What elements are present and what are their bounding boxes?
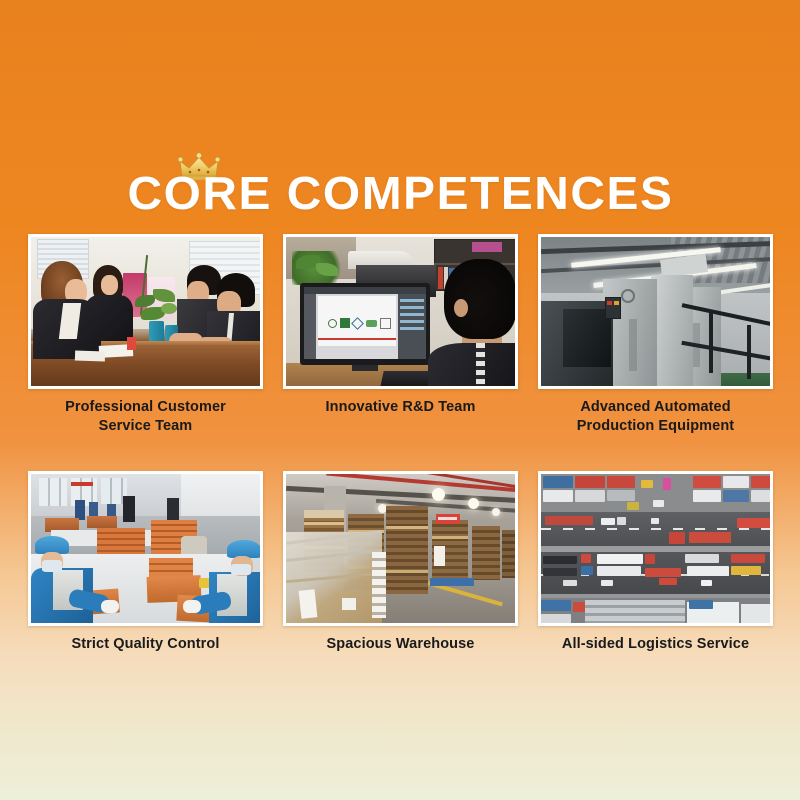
competence-card-spacious-warehouse[interactable]: Spacious Warehouse <box>283 471 518 654</box>
competence-card-innovative-rd-team[interactable]: Innovative R&D Team <box>283 234 518 435</box>
caption-line-2: Service Team <box>28 417 263 436</box>
competence-caption: Spacious Warehouse <box>283 635 518 654</box>
caption-line-1: All-sided Logistics Service <box>538 635 773 654</box>
title-block: CORE COMPETENCES <box>0 152 800 220</box>
competence-card-strict-quality-control[interactable]: Strict Quality Control <box>28 471 263 654</box>
caption-line-1: Strict Quality Control <box>28 635 263 654</box>
caption-line-2: Production Equipment <box>538 417 773 436</box>
competence-card-professional-customer-service-team[interactable]: Professional Customer Service Team <box>28 234 263 435</box>
printing-press-machinery-photo <box>538 234 773 389</box>
caption-line-1: Professional Customer <box>28 398 263 417</box>
warehouse-pallet-storage-photo <box>283 471 518 626</box>
page-title: CORE COMPETENCES <box>127 166 673 220</box>
competence-card-advanced-automated-production-equipment[interactable]: Advanced Automated Production Equipment <box>538 234 773 435</box>
competence-caption: All-sided Logistics Service <box>538 635 773 654</box>
competence-caption: Innovative R&D Team <box>283 398 518 417</box>
competences-grid: Professional Customer Service Team <box>28 234 772 654</box>
quality-control-inspection-photo <box>28 471 263 626</box>
customer-service-meeting-photo <box>28 234 263 389</box>
competence-caption: Advanced Automated Production Equipment <box>538 398 773 435</box>
aerial-container-yard-photo <box>538 471 773 626</box>
competence-caption: Professional Customer Service Team <box>28 398 263 435</box>
caption-line-1: Advanced Automated <box>538 398 773 417</box>
competence-card-all-sided-logistics-service[interactable]: All-sided Logistics Service <box>538 471 773 654</box>
core-competences-banner: CORE COMPETENCES <box>0 0 800 800</box>
caption-line-1: Spacious Warehouse <box>283 635 518 654</box>
designer-at-cad-workstation-photo <box>283 234 518 389</box>
caption-line-1: Innovative R&D Team <box>283 398 518 417</box>
competences-row-top: Professional Customer Service Team <box>28 234 772 435</box>
competences-row-bottom: Strict Quality Control <box>28 471 772 654</box>
competence-caption: Strict Quality Control <box>28 635 263 654</box>
